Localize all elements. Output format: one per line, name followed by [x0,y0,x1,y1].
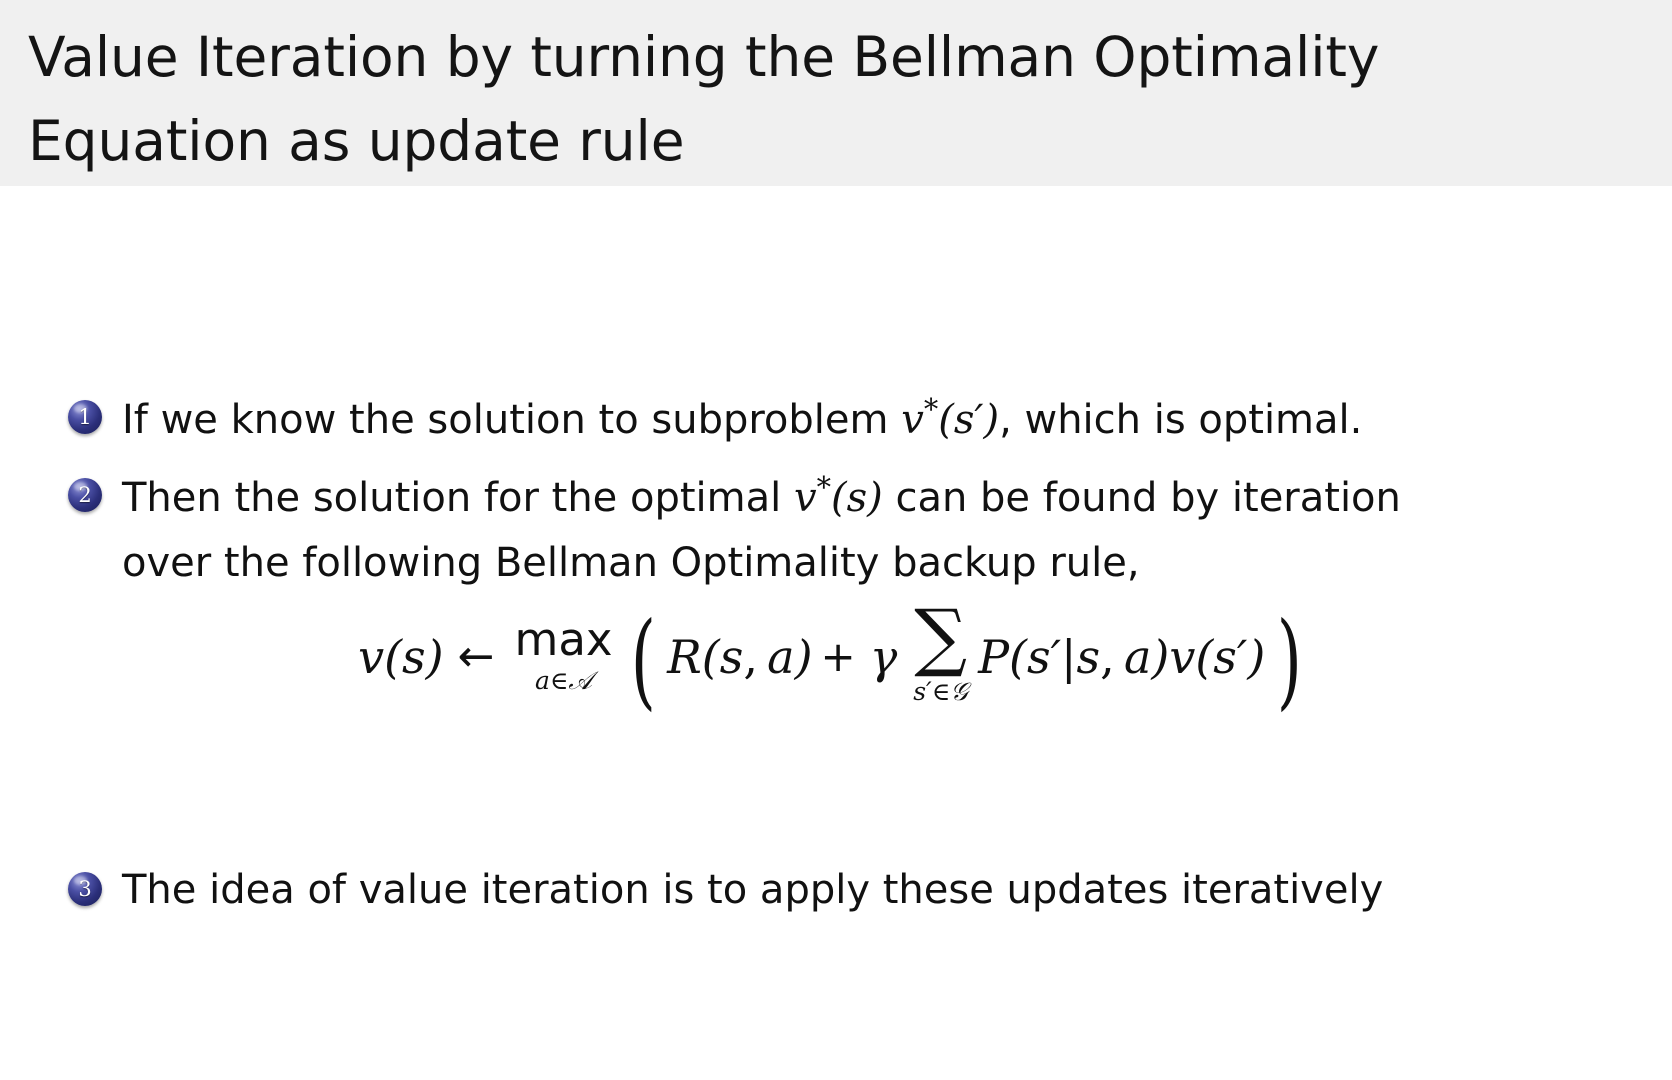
sum-sub-sprime: s′ [913,677,932,706]
equation-lhs-close-paren: ) [426,630,444,684]
equation-reward-s: s [720,630,744,684]
equation-prob-open-paren: ( [1009,630,1027,684]
equation-prob-comma: , [1100,630,1124,684]
equation-gamma: γ [870,630,898,684]
max-sub-element-of-icon: ∈ [550,666,569,695]
list-item-text: If we know the solution to subproblem v*… [122,386,1362,453]
equation-lhs-open-paren: ( [384,630,402,684]
item3-text: The idea of value iteration is to apply … [122,867,1383,913]
bullet-number: 3 [68,872,102,906]
max-sub-a: a [535,666,550,695]
equation-val-sprime: s′ [1213,630,1247,684]
equation-prob-a: a [1124,630,1151,684]
list-item: 3 The idea of value iteration is to appl… [68,858,1628,923]
equation-reward-a: a [767,630,794,684]
max-subscript: a∈𝒜 [535,665,592,696]
equation-val-v: v [1169,630,1195,684]
bullet-marker-1-icon: 1 [68,400,102,434]
item2-math-open-paren: ( [831,475,847,521]
bullet-number: 1 [68,400,102,434]
equation-reward-R: R [667,630,702,684]
list-item: 2 Then the solution for the optimal v*(s… [68,464,1628,595]
equation-prob-P: P [978,630,1009,684]
equation-lhs-s: s [402,630,426,684]
bullet-number: 2 [68,478,102,512]
item1-math-star: * [924,392,938,426]
equation-plus-sign: + [821,632,856,681]
equation-reward-close-paren: ) [795,630,813,684]
equation-prob-conditional-bar: | [1061,630,1077,684]
equation-prob-sprime: s′ [1027,630,1061,684]
slide-body: 1 If we know the solution to subproblem … [0,186,1672,1080]
sum-sub-state-set: 𝒢 [950,677,968,706]
left-arrow-icon: ← [458,631,495,682]
sigma-icon: ∑ [914,606,967,669]
bellman-optimality-backup-equation: v(s) ← max a∈𝒜 ( R(s, a) + γ ∑ s′∈𝒢 P(s′… [0,606,1672,707]
summation-operator: ∑ s′∈𝒢 [913,606,968,707]
list-item-text: Then the solution for the optimal v*(s) … [122,464,1401,595]
max-operator: max a∈𝒜 [514,617,612,696]
list-item: 1 If we know the solution to subproblem … [68,386,1608,453]
slide-title-bar: Value Iteration by turning the Bellman O… [0,0,1672,186]
item1-math-s: s [954,397,975,443]
item2-post-text: can be found by iteration [883,475,1401,521]
item2-math-v: v [794,475,817,521]
item2-math-close-paren: ) [867,475,883,521]
item1-math-open-paren: ( [938,397,954,443]
item1-math-v: v [901,397,924,443]
item2-pre-text: Then the solution for the optimal [122,475,794,521]
sum-subscript: s′∈𝒢 [913,676,968,707]
equation-lhs-v: v [358,630,384,684]
equation-prob-close-paren: ) [1151,630,1169,684]
item2-math-star: * [817,470,831,504]
list-item-text: The idea of value iteration is to apply … [122,858,1383,923]
bullet-marker-2-icon: 2 [68,478,102,512]
equation-reward-open-paren: ( [702,630,720,684]
max-label: max [514,617,612,662]
equation-val-open-paren: ( [1195,630,1213,684]
slide-title: Value Iteration by turning the Bellman O… [28,16,1632,183]
max-sub-action-set: 𝒜 [568,666,592,695]
equation-row: v(s) ← max a∈𝒜 ( R(s, a) + γ ∑ s′∈𝒢 P(s′… [358,606,1314,707]
item1-pre-text: If we know the solution to subproblem [122,397,901,443]
sum-sub-element-of-icon: ∈ [932,677,951,706]
equation-reward-comma: , [743,630,767,684]
bullet-marker-3-icon: 3 [68,872,102,906]
presentation-slide: Value Iteration by turning the Bellman O… [0,0,1672,1080]
item1-post-text: , which is optimal. [999,397,1362,443]
item2-line2-text: over the following Bellman Optimality ba… [122,540,1140,586]
equation-val-close-paren: ) [1247,630,1265,684]
item2-math-s: s [847,475,868,521]
equation-prob-s: s [1077,630,1101,684]
item1-math-close-paren: ) [983,397,999,443]
